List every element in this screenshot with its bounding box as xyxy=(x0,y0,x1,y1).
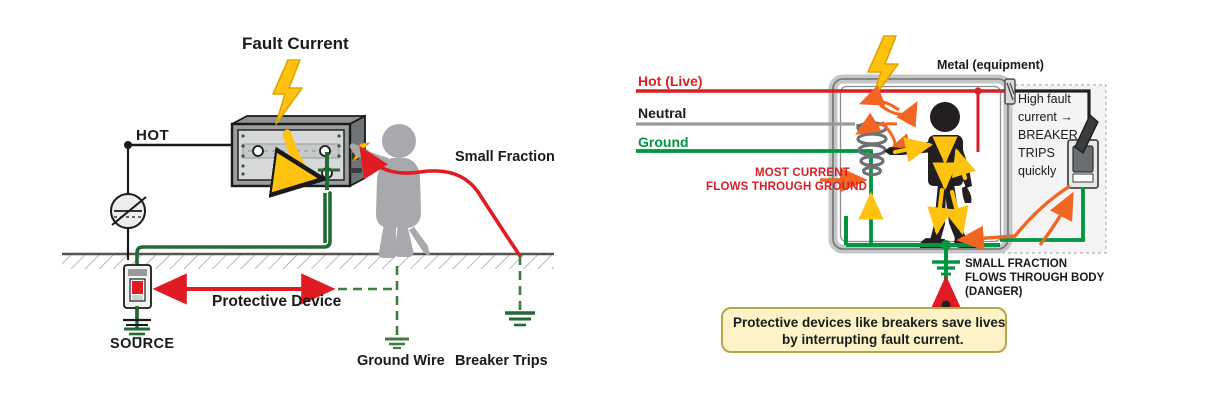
breaker-note-line-2: current → xyxy=(1018,110,1073,124)
label-small-fraction-2: FLOWS THROUGH BODY xyxy=(965,272,1104,284)
label-small-fraction: Small Fraction xyxy=(455,149,555,165)
breaker-note-line-1: High fault xyxy=(1018,92,1071,106)
label-protective-device: Protective Device xyxy=(212,293,341,311)
label-small-fraction-1: SMALL FRACTION xyxy=(965,258,1067,270)
legend-hot-label: Hot (Live) xyxy=(638,73,703,89)
label-most-current-2: FLOWS THROUGH GROUND xyxy=(706,181,867,193)
legend-ground-label: Ground xyxy=(638,134,689,150)
label-small-fraction-3: (DANGER) xyxy=(965,286,1023,298)
label-fault-current: Fault Current xyxy=(242,34,349,54)
callout-line-1: Protective devices like breakers save li… xyxy=(733,315,1005,330)
label-source: SOURCE xyxy=(110,336,174,352)
metal-enclosure-icon xyxy=(833,79,1008,249)
label-ground-wire: Ground Wire xyxy=(357,353,445,369)
callout-line-2: by interrupting fault current. xyxy=(782,332,964,347)
label-hot: HOT xyxy=(136,127,169,144)
legend-neutral-label: Neutral xyxy=(638,105,686,121)
conduit-fitting-icon xyxy=(1005,79,1015,104)
label-most-current-1: MOST CURRENT xyxy=(755,167,850,179)
breaker-note-line-3: BREAKER xyxy=(1018,128,1078,142)
breaker-note-line-5: quickly xyxy=(1018,164,1056,178)
diagram-canvas: Fault Current HOT Small Fraction Protect… xyxy=(0,0,1206,415)
label-breaker-trips: Breaker Trips xyxy=(455,353,548,369)
label-metal-equipment: Metal (equipment) xyxy=(937,58,1044,72)
breaker-note-line-4: TRIPS xyxy=(1018,146,1055,160)
